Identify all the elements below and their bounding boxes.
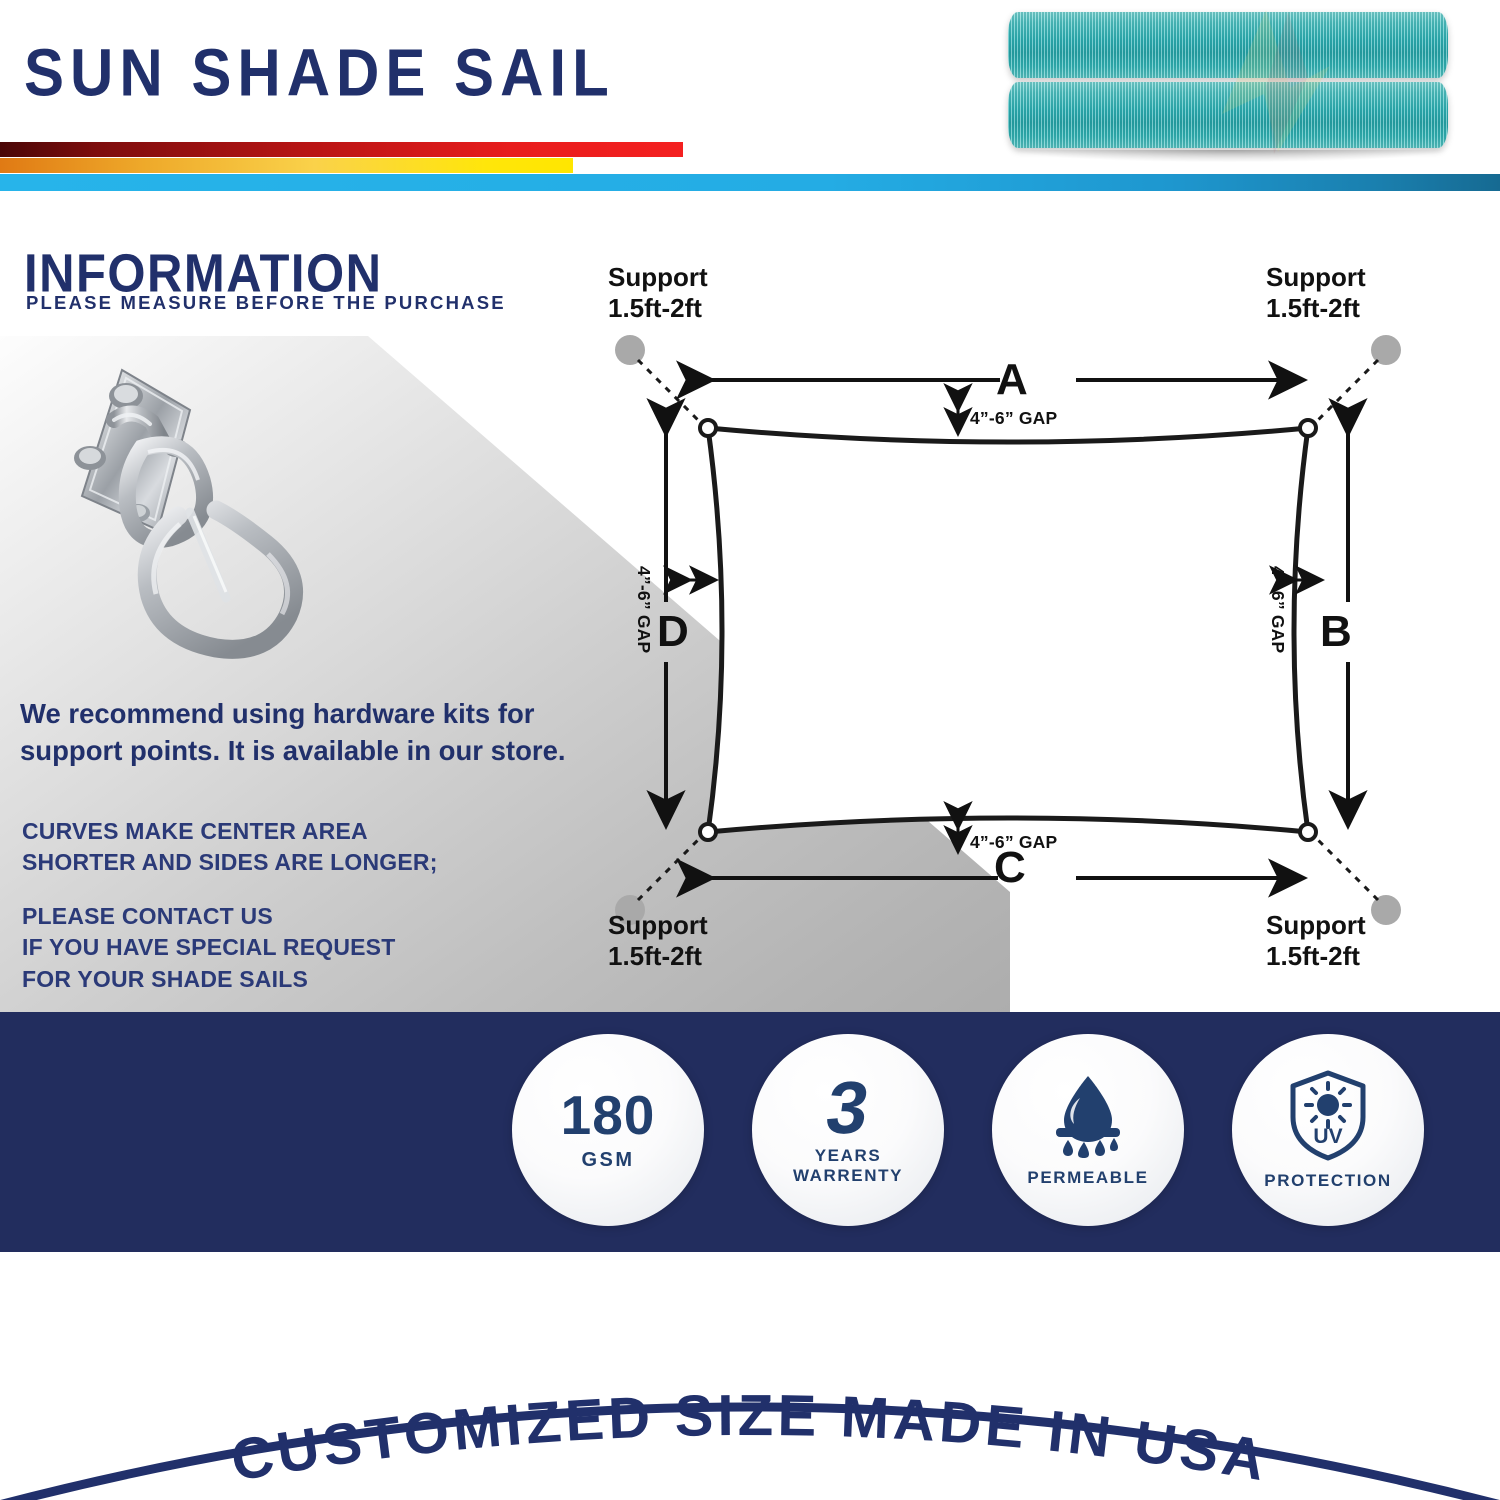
product-fabric-rolls-image xyxy=(1008,4,1456,164)
gap-label-top: 4”-6” GAP xyxy=(970,408,1057,429)
support-label-bottom-right: Support 1.5ft-2ft xyxy=(1266,910,1366,972)
shade-sail-measurement-diagram: Support 1.5ft-2ft Support 1.5ft-2ft Supp… xyxy=(580,250,1480,1010)
badge-gsm-value: 180 xyxy=(561,1088,656,1143)
badge-permeable-label: PERMEABLE xyxy=(1027,1168,1148,1188)
fabric-roll-shadow xyxy=(1014,150,1446,162)
gap-label-bottom: 4”-6” GAP xyxy=(970,832,1057,853)
header-title: SUN SHADE SAIL xyxy=(24,34,615,111)
footer-arc-banner: CUSTOMIZED SIZE MADE IN USA xyxy=(0,1252,1500,1500)
water-drop-permeable-icon xyxy=(1042,1072,1134,1158)
gap-label-right: 4”-6” GAP xyxy=(1267,566,1288,653)
badge-warranty-label: WARRENTY xyxy=(793,1166,903,1186)
svg-text:UV: UV xyxy=(1313,1125,1342,1148)
stripe-blue xyxy=(0,174,1500,191)
hardware-kit-image xyxy=(30,348,350,668)
information-subheading: PLEASE MEASURE BEFORE THE PURCHASE xyxy=(26,292,506,314)
dimension-label-a: A xyxy=(996,358,1028,402)
badge-warranty-value: 3 xyxy=(823,1074,874,1142)
badge-gsm-label: GSM xyxy=(581,1149,634,1172)
feature-badges: 180 GSM 3 YEARS WARRENTY PERMEABLE xyxy=(512,1034,1462,1230)
arc-text: CUSTOMIZED SIZE MADE IN USA xyxy=(226,1383,1273,1494)
badge-permeable: PERMEABLE xyxy=(992,1034,1184,1226)
carabiner-clip xyxy=(147,510,293,649)
sail-outline xyxy=(708,428,1308,832)
fabric-roll-bottom xyxy=(1008,82,1448,148)
badge-uv-protection: UV PROTECTION xyxy=(1232,1034,1424,1226)
support-label-top-left: Support 1.5ft-2ft xyxy=(608,262,708,324)
contact-note-text: PLEASE CONTACT US IF YOU HAVE SPECIAL RE… xyxy=(22,901,395,995)
dimension-label-b: B xyxy=(1320,610,1352,654)
support-label-bottom-left: Support 1.5ft-2ft xyxy=(608,910,708,972)
support-label-top-right: Support 1.5ft-2ft xyxy=(1266,262,1366,324)
infographic-page: SUN SHADE SAIL INFORMATION PLEASE MEASUR… xyxy=(0,0,1500,1500)
badge-protection-label: PROTECTION xyxy=(1264,1171,1391,1191)
hardware-recommendation-text: We recommend using hardware kits for sup… xyxy=(20,696,620,769)
uv-shield-icon: UV xyxy=(1285,1069,1371,1161)
gap-label-left: 4”-6” GAP xyxy=(633,566,654,653)
badge-gsm: 180 GSM xyxy=(512,1034,704,1226)
stripe-yellow xyxy=(0,158,573,173)
curves-note-text: CURVES MAKE CENTER AREA SHORTER AND SIDE… xyxy=(22,816,438,879)
dimension-label-d: D xyxy=(657,610,689,654)
stripe-red xyxy=(0,142,683,157)
fabric-roll-top xyxy=(1008,12,1448,78)
badge-warranty: 3 YEARS WARRENTY xyxy=(752,1034,944,1226)
